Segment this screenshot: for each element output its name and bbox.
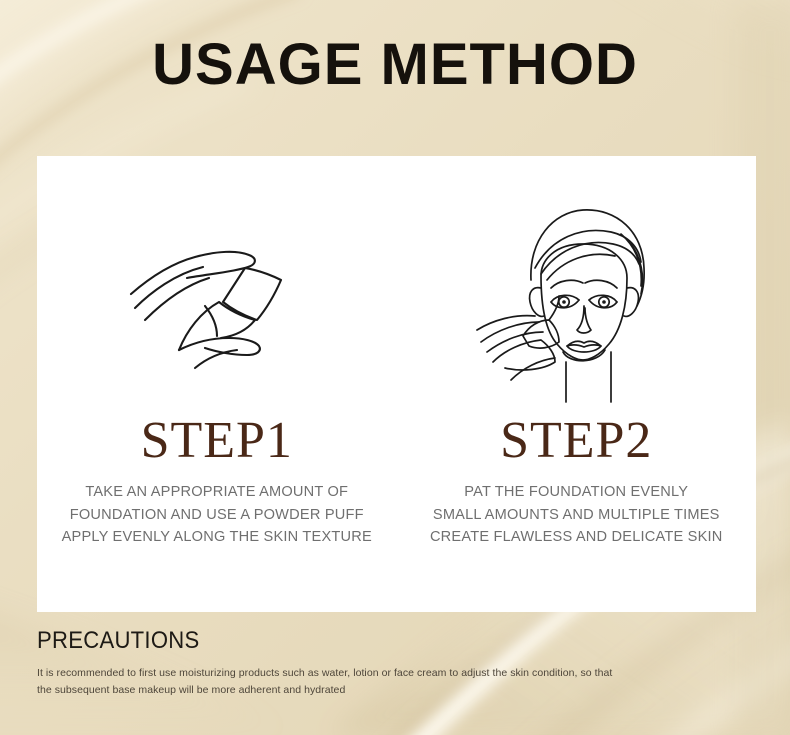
step-heading-1: STEP1 xyxy=(37,414,397,469)
step-description-2-line-2: SMALL AMOUNTS AND MULTIPLE TIMES xyxy=(397,504,757,527)
step-heading-2: STEP2 xyxy=(397,414,757,469)
step-description-1-line-1: TAKE AN APPROPRIATE AMOUNT OF xyxy=(37,481,397,504)
usage-method-card: STEP1 TAKE AN APPROPRIATE AMOUNT OF FOUN… xyxy=(37,156,756,612)
page-title: USAGE METHOD xyxy=(0,36,790,94)
step-description-1-line-3: APPLY EVENLY ALONG THE SKIN TEXTURE xyxy=(37,526,397,549)
woman-face-applying-foundation-icon xyxy=(397,174,757,424)
precautions-body: It is recommended to first use moisturiz… xyxy=(37,665,613,699)
hand-holding-powder-puff-icon xyxy=(37,174,397,424)
step-description-2-line-1: PAT THE FOUNDATION EVENLY xyxy=(397,481,757,504)
precautions-title: PRECAUTIONS xyxy=(37,628,626,654)
step-description-2: PAT THE FOUNDATION EVENLY SMALL AMOUNTS … xyxy=(397,481,757,549)
step-column-1: STEP1 TAKE AN APPROPRIATE AMOUNT OF FOUN… xyxy=(37,156,397,612)
precautions-section: PRECAUTIONS It is recommended to first u… xyxy=(37,628,677,699)
step-description-1: TAKE AN APPROPRIATE AMOUNT OF FOUNDATION… xyxy=(37,481,397,549)
step-column-2: STEP2 PAT THE FOUNDATION EVENLY SMALL AM… xyxy=(397,156,757,612)
step-description-1-line-2: FOUNDATION AND USE A POWDER PUFF xyxy=(37,504,397,527)
step-description-2-line-3: CREATE FLAWLESS AND DELICATE SKIN xyxy=(397,526,757,549)
